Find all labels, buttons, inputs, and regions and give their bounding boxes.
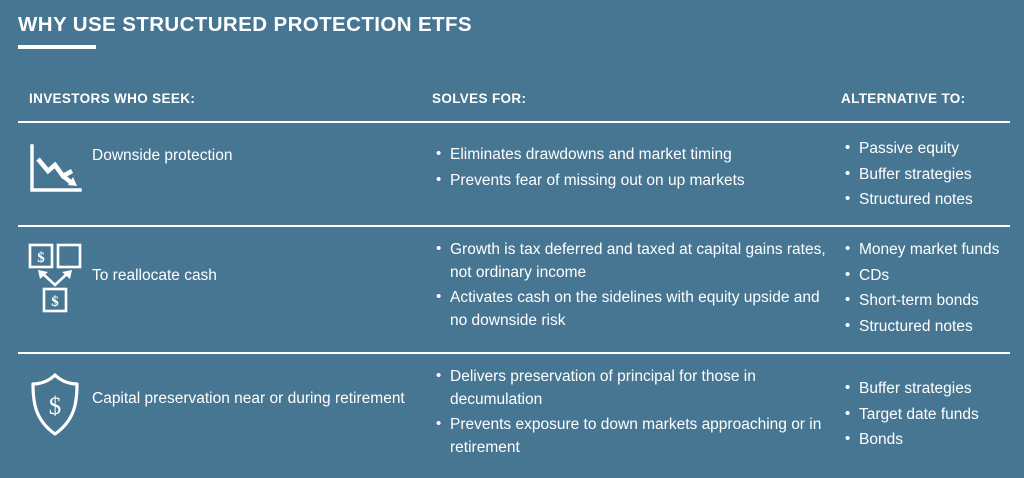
column-header-investors-who-seek: INVESTORS WHO SEEK: (29, 91, 195, 106)
seek-label: To reallocate cash (92, 235, 217, 287)
cell-solves-for: Growth is tax deferred and taxed at capi… (432, 235, 827, 336)
list-item: Short-term bonds (859, 290, 1021, 313)
page-title: WHY USE STRUCTURED PROTECTION ETFS (18, 14, 472, 37)
solves-for-list: Eliminates drawdowns and market timing P… (432, 131, 827, 192)
list-item: Prevents exposure to down markets approa… (450, 414, 827, 459)
cell-solves-for: Eliminates drawdowns and market timing P… (432, 131, 827, 195)
list-item: Buffer strategies (859, 378, 1021, 401)
list-item: Bonds (859, 429, 1021, 452)
alternative-to-list: Passive equity Buffer strategies Structu… (841, 131, 1021, 212)
seek-label: Downside protection (92, 131, 232, 167)
svg-text:$: $ (37, 250, 45, 266)
seek-label: Capital preservation near or during reti… (92, 362, 405, 410)
shield-dollar-icon: $ (18, 362, 92, 438)
list-item: Growth is tax deferred and taxed at capi… (450, 239, 827, 284)
header-divider-rule (18, 121, 1010, 123)
list-item: Prevents fear of missing out on up marke… (450, 170, 827, 193)
solves-for-list: Growth is tax deferred and taxed at capi… (432, 235, 827, 333)
cell-investors-who-seek: Downside protection (18, 131, 418, 195)
list-item: Structured notes (859, 189, 1021, 212)
svg-text:$: $ (49, 393, 62, 420)
infographic-page: WHY USE STRUCTURED PROTECTION ETFS INVES… (0, 0, 1024, 478)
cell-investors-who-seek: $ Capital preservation near or during re… (18, 362, 418, 438)
cell-alternative-to: Money market funds CDs Short-term bonds … (841, 235, 1021, 342)
list-item: Buffer strategies (859, 164, 1021, 187)
solves-for-list: Delivers preservation of principal for t… (432, 362, 827, 460)
cell-alternative-to: Buffer strategies Target date funds Bond… (841, 362, 1021, 455)
alternative-to-list: Buffer strategies Target date funds Bond… (841, 362, 1021, 452)
declining-chart-icon (18, 131, 92, 195)
alternative-to-list: Money market funds CDs Short-term bonds … (841, 235, 1021, 339)
title-underline-rule (18, 45, 96, 49)
title-block: WHY USE STRUCTURED PROTECTION ETFS (18, 14, 472, 49)
list-item: Delivers preservation of principal for t… (450, 366, 827, 411)
cell-solves-for: Delivers preservation of principal for t… (432, 362, 827, 463)
row-divider-rule-1 (18, 225, 1010, 227)
list-item: Target date funds (859, 404, 1021, 427)
row-divider-rule-2 (18, 352, 1010, 354)
svg-text:$: $ (51, 294, 59, 310)
list-item: Activates cash on the sidelines with equ… (450, 287, 827, 332)
cell-alternative-to: Passive equity Buffer strategies Structu… (841, 131, 1021, 215)
list-item: CDs (859, 265, 1021, 288)
list-item: Money market funds (859, 239, 1021, 262)
cash-reallocation-icon: $ $ (18, 235, 92, 313)
column-header-solves-for: SOLVES FOR: (432, 91, 526, 106)
cell-investors-who-seek: $ $ To reallocate cash (18, 235, 418, 313)
list-item: Eliminates drawdowns and market timing (450, 144, 827, 167)
column-header-alternative-to: ALTERNATIVE TO: (841, 91, 966, 106)
list-item: Structured notes (859, 316, 1021, 339)
list-item: Passive equity (859, 138, 1021, 161)
